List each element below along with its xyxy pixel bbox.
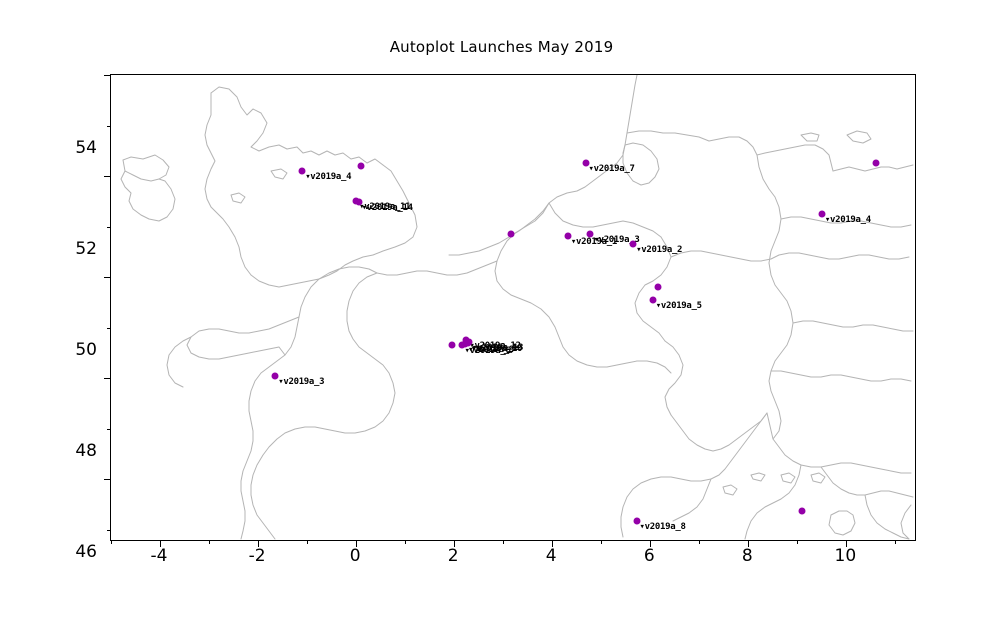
x-tick-label: 2 <box>448 546 459 566</box>
data-point-marker[interactable] <box>872 160 879 167</box>
x-tick-minor <box>111 540 112 544</box>
data-point-marker[interactable] <box>448 342 455 349</box>
data-point-label: ▾v2019a_14 <box>362 204 413 213</box>
y-tick-major <box>104 479 111 480</box>
x-tick-minor <box>601 540 602 544</box>
x-tick-minor <box>307 540 308 544</box>
y-tick-label: 54 <box>75 138 97 158</box>
x-tick-minor <box>503 540 504 544</box>
y-tick-label: 50 <box>75 340 97 360</box>
y-tick-minor <box>107 328 111 329</box>
x-tick-minor <box>405 540 406 544</box>
y-tick-minor <box>107 429 111 430</box>
data-point-label: ▾v2019a_2 <box>636 246 682 255</box>
y-tick-label: 52 <box>75 239 97 259</box>
y-tick-minor <box>107 227 111 228</box>
y-tick-major <box>104 277 111 278</box>
y-tick-minor <box>107 530 111 531</box>
y-tick-label: 46 <box>75 542 97 562</box>
y-tick-label: 48 <box>75 441 97 461</box>
data-point-label: ▾v2019a_4 <box>825 216 871 225</box>
map-coastlines <box>111 75 915 540</box>
data-point-label: ▾v2019a_3 <box>278 378 324 387</box>
data-point-marker[interactable] <box>799 507 806 514</box>
data-point-label: ▾v2019a_6 <box>465 347 511 356</box>
x-tick-minor <box>797 540 798 544</box>
plot-area: ▾v2019a_4▾v2019a_11▾v2019a_14▾v2019a_7▾v… <box>110 74 916 541</box>
y-tick-major <box>104 378 111 379</box>
x-tick-minor <box>699 540 700 544</box>
page-title: Autoplot Launches May 2019 <box>0 38 1003 56</box>
x-tick-label: 6 <box>644 546 655 566</box>
data-point-label: ▾v2019a_5 <box>656 302 702 311</box>
data-point-label: ▾v2019a_8 <box>640 523 686 532</box>
x-tick-label: -2 <box>249 546 266 566</box>
y-tick-major <box>104 75 111 76</box>
data-point-marker[interactable] <box>358 162 365 169</box>
y-tick-minor <box>107 126 111 127</box>
data-point-marker[interactable] <box>507 231 514 238</box>
x-tick-label: 0 <box>350 546 361 566</box>
y-axis-labels: 5452504846 <box>0 74 110 539</box>
x-tick-label: 10 <box>835 546 857 566</box>
x-tick-label: 8 <box>742 546 753 566</box>
data-point-label: ▾v2019a_7 <box>589 165 635 174</box>
y-tick-major <box>104 176 111 177</box>
x-axis-labels: -4-20246810 <box>110 546 914 576</box>
x-tick-label: 4 <box>546 546 557 566</box>
x-tick-minor <box>209 540 210 544</box>
figure-canvas: Autoplot Launches May 2019 5452504846 <box>0 0 1003 633</box>
data-point-label: ▾v2019a_4 <box>305 173 351 182</box>
x-tick-minor <box>895 540 896 544</box>
data-point-marker[interactable] <box>654 284 661 291</box>
x-tick-label: -4 <box>151 546 168 566</box>
